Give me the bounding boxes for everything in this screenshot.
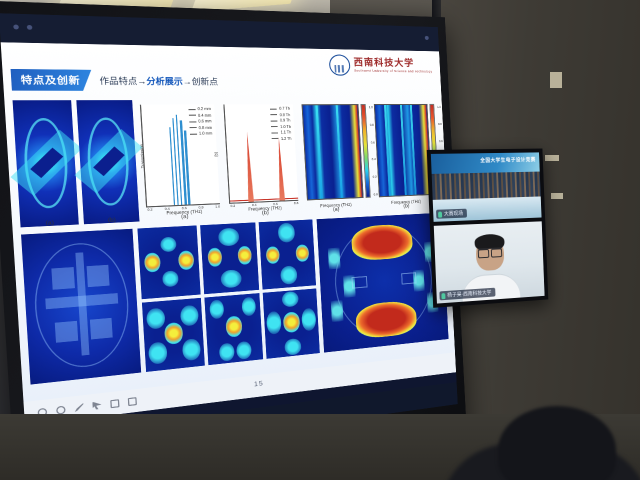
figure-caption: (b) — [380, 202, 432, 211]
led-wall-display[interactable]: 西南科技大学 Southwest University of Science a… — [0, 1, 467, 480]
field-lobe — [159, 236, 176, 252]
field-lobe — [146, 307, 165, 329]
chart-peak — [244, 132, 254, 202]
university-logo: 西南科技大学 Southwest University of Science a… — [328, 54, 433, 76]
heatmap-surface: Frequency (THz) (a) — [302, 104, 364, 200]
figure-mode-panel: (d) — [142, 297, 205, 372]
figure-mode-panel: (f) — [263, 288, 320, 359]
mic-icon — [438, 211, 442, 217]
video-tile-presenter[interactable]: 杨子昊·西南科技大学 — [434, 221, 545, 303]
chart-legend: 0.7 Th 0.8 Th 0.9 Th 1.0 Th 1.1 Th 1.2 T… — [270, 106, 291, 140]
legend-item: 0.8 mm — [189, 125, 212, 130]
university-name-en: Southwest University of Science and Tech… — [354, 70, 432, 74]
field-lobe — [209, 300, 225, 320]
chart-absorption-peaks-b: (b) 0.7 Th 0.8 Th 0.9 Th 1.0 Th 1.1 Th 1… — [223, 104, 298, 204]
figure-mode-panel: (a) — [137, 225, 200, 298]
figure-caption: (a) — [308, 205, 363, 214]
wall-marker — [545, 155, 559, 161]
figure-mode-panel: (c) — [259, 219, 316, 289]
field-lobe — [182, 339, 200, 361]
breadcrumb-suffix: →创新点 — [182, 76, 218, 86]
participant-name-badge: 大赛现场 — [436, 209, 467, 219]
structure-bar — [54, 320, 78, 343]
breadcrumb-prefix: 作品特点→ — [99, 75, 147, 86]
topbar-dot — [27, 25, 33, 30]
field-lobe — [221, 269, 242, 288]
field-lobe — [278, 223, 296, 242]
legend-item: 0.8 Th — [271, 112, 291, 116]
slide-header: 西南科技大学 Southwest University of Science a… — [1, 42, 442, 100]
figure-caption: (f) — [267, 356, 320, 359]
field-lobe — [266, 311, 281, 335]
slide-figure-row-top: (a) (b) Transmission 0.2 mm — [13, 100, 442, 228]
structure-aperture — [401, 272, 416, 285]
field-hotspot — [144, 253, 161, 274]
figure-near-field-large — [317, 213, 449, 353]
field-lobe — [148, 342, 167, 365]
slide-canvas[interactable]: 西南科技大学 Southwest University of Science a… — [1, 42, 455, 402]
figure-unit-cell-structure — [21, 229, 141, 385]
breadcrumb: 作品特点→分析展示→创新点 — [99, 74, 218, 87]
slide-figure-row-bottom: (a) (b) — [21, 213, 449, 385]
university-name-cn: 西南科技大学 — [353, 58, 432, 68]
field-lobe — [218, 227, 239, 246]
heatmap-band — [400, 105, 407, 195]
field-hotspot — [266, 246, 280, 264]
heatmap-band — [384, 105, 391, 196]
chart-transmission-spectra-a: Transmission 0.2 mm 0.4 mm 0.6 mm 0.8 mm… — [140, 104, 220, 207]
figure-field-map-b: (b) — [76, 100, 139, 224]
field-lobe — [284, 338, 302, 356]
legend-item: 0.6 mm — [189, 119, 212, 124]
legend-item: 0.2 mm — [188, 107, 211, 112]
participant-name: 大赛现场 — [444, 210, 463, 218]
field-lobe — [162, 271, 179, 287]
structure-bar — [51, 267, 75, 289]
structure-bar — [87, 265, 110, 287]
room-scene: 西南科技大学 Southwest University of Science a… — [0, 0, 640, 480]
figure-mode-grid: (a) (b) — [137, 219, 319, 372]
topbar-dot — [13, 25, 19, 30]
display-bezel: 西南科技大学 Southwest University of Science a… — [0, 1, 467, 480]
glasses-icon — [478, 247, 502, 255]
field-hotspot — [178, 250, 194, 270]
video-tile-venue[interactable]: 全国大学生电子设计竞赛 大赛现场 — [431, 152, 542, 221]
field-lobe — [302, 308, 317, 331]
legend-item: 1.2 Th — [272, 136, 292, 141]
figure-caption: (b) — [84, 216, 140, 226]
legend-item: 1.1 Th — [272, 130, 292, 135]
legend-item: 0.7 Th — [270, 106, 290, 110]
field-hotspot — [237, 246, 251, 266]
venue-audience — [432, 172, 541, 200]
structure-bar — [90, 317, 113, 339]
display-screen[interactable]: 西南科技大学 Southwest University of Science a… — [0, 13, 458, 464]
video-conference-panel[interactable]: 全国大学生电子设计竞赛 大赛现场 杨子昊·西南科技大学 — [427, 149, 549, 308]
chart-y-axis-label: (b) — [214, 151, 219, 156]
structure-aperture — [351, 276, 367, 289]
field-lobe — [281, 291, 299, 308]
legend-item: 1.0 Th — [271, 124, 291, 129]
chart-heatmap-a: Frequency (THz) (a) 1.0 0.8 0.6 0.4 0.2 — [302, 104, 371, 200]
field-lobe — [241, 297, 256, 317]
figure-mode-panel: (e) — [204, 293, 264, 366]
figure-caption: (e) — [208, 362, 263, 365]
field-lobe — [219, 342, 235, 361]
wall-marker — [551, 193, 563, 199]
heatmap-band — [316, 105, 323, 199]
topbar-dot — [425, 36, 429, 40]
legend-item: 1.0 mm — [189, 131, 212, 136]
field-lobe — [280, 265, 298, 285]
figure-caption: (d) — [146, 369, 204, 372]
field-lobe — [236, 340, 251, 359]
heatmap-surface: Frequency (THz) (b) — [374, 104, 432, 197]
university-seal-icon — [328, 54, 350, 75]
field-hotspot — [296, 245, 310, 263]
venue-banner-title: 全国大学生电子设计竞赛 — [480, 156, 536, 164]
field-hotspot — [283, 312, 301, 333]
field-side-lobe — [327, 247, 340, 269]
legend-item: 0.4 mm — [188, 113, 211, 118]
mic-icon — [441, 293, 445, 299]
field-side-lobe — [330, 300, 343, 322]
heatmap-band — [410, 105, 417, 195]
figure-mode-panel: (b) — [200, 222, 260, 293]
legend-item: 0.9 Th — [271, 118, 291, 123]
wall-marker — [550, 72, 562, 88]
chart-legend: 0.2 mm 0.4 mm 0.6 mm 0.8 mm 1.0 mm — [188, 107, 212, 136]
field-hotspot — [208, 247, 223, 267]
figure-field-map-a: (a) — [13, 100, 79, 227]
chart-peak — [276, 137, 285, 201]
field-hotspot — [226, 316, 243, 338]
slide-title-banner: 特点及创新 作品特点→分析展示→创新点 — [11, 69, 219, 91]
heatmap-band — [336, 105, 343, 198]
field-lobe — [180, 304, 199, 326]
figure-caption: (a) — [20, 219, 79, 229]
chart-y-axis-label: Transmission — [139, 143, 145, 167]
slide-section-tab: 特点及创新 — [11, 69, 93, 91]
breadcrumb-current: 分析展示 — [146, 76, 183, 86]
field-hotspot — [163, 322, 183, 344]
